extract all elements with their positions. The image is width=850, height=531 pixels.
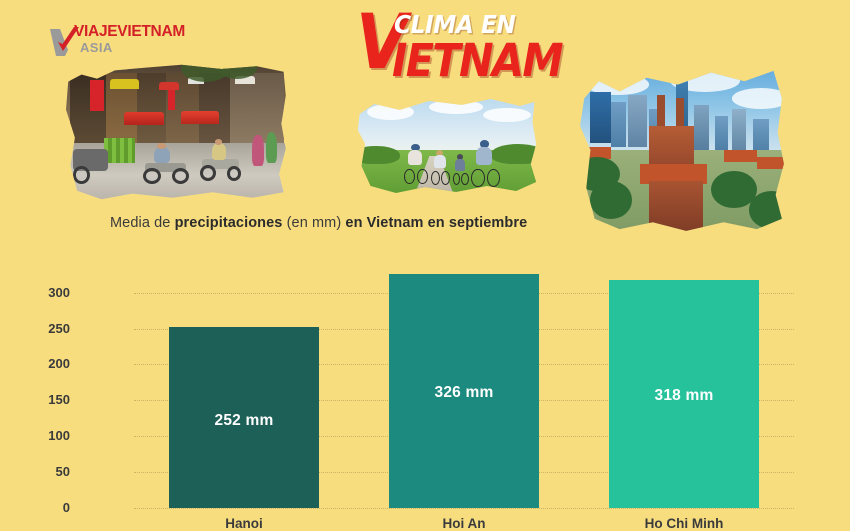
viajevietnam-asia-logo[interactable]: VIAJEVIETNAM ASIA [48, 22, 188, 62]
subtitle-bold-precipitaciones: precipitaciones [175, 215, 283, 231]
y-axis-tick-label: 250 [30, 321, 70, 336]
bar-value-label: 326 mm [389, 384, 539, 402]
subtitle-bold-vietnam-septiembre: en Vietnam en septiembre [345, 215, 527, 231]
title-line-vietnam: IETNAM [392, 38, 562, 83]
precipitation-bar-chart: 050100150200250300252 mmHanoi326 mmHoi A… [0, 248, 850, 530]
y-axis-tick-label: 50 [30, 464, 70, 479]
y-axis-tick-label: 0 [30, 500, 70, 515]
photo-ho-chi-minh [578, 64, 786, 236]
y-axis-tick-label: 200 [30, 356, 70, 371]
x-axis-label-hanoi: Hanoi [134, 516, 354, 531]
bar-hoi-an[interactable]: 326 mm [389, 274, 539, 508]
x-axis-label-hoi-an: Hoi An [354, 516, 574, 531]
logo-primary-text: VIAJEVIETNAM [74, 24, 194, 40]
y-axis-tick-label: 300 [30, 285, 70, 300]
subtitle-part-2: (en mm) [282, 215, 345, 231]
x-axis-label-ho-chi-minh: Ho Chi Minh [574, 516, 794, 531]
subtitle-part-1: Media de [110, 215, 175, 231]
chart-subtitle: Media de precipitaciones (en mm) en Viet… [110, 215, 527, 231]
bar-ho-chi-minh[interactable]: 318 mm [609, 280, 759, 508]
photo-hoi-an [356, 96, 538, 196]
logo-secondary-text: ASIA [80, 41, 194, 55]
bar-value-label: 252 mm [169, 412, 319, 430]
chart-plot-area: 050100150200250300252 mmHanoi326 mmHoi A… [134, 264, 794, 508]
photo-hanoi [66, 62, 288, 202]
bar-hanoi[interactable]: 252 mm [169, 327, 319, 508]
y-axis-tick-label: 100 [30, 428, 70, 443]
page-title: V CLIMA EN IETNAM [356, 2, 546, 86]
bar-value-label: 318 mm [609, 387, 759, 405]
y-axis-tick-label: 150 [30, 392, 70, 407]
gridline [134, 508, 794, 509]
infographic-canvas: VIAJEVIETNAM ASIA V CLIMA EN IETNAM [0, 0, 850, 530]
